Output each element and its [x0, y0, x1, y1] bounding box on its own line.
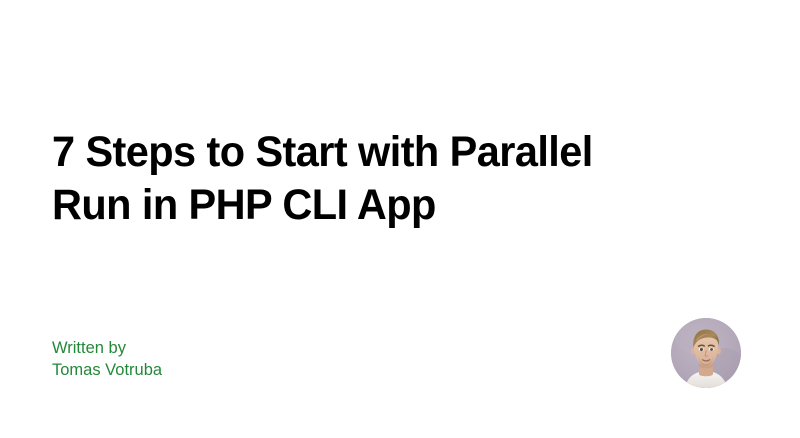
blog-post-header-card: 7 Steps to Start with Parallel Run in PH… [0, 0, 800, 438]
avatar[interactable] [671, 318, 741, 388]
page-title: 7 Steps to Start with Parallel Run in PH… [52, 126, 718, 232]
author-name[interactable]: Tomas Votruba [52, 359, 162, 381]
written-by-label: Written by [52, 337, 162, 359]
author-byline: Written by Tomas Votruba [52, 337, 162, 381]
author-portrait-photo [671, 318, 741, 388]
